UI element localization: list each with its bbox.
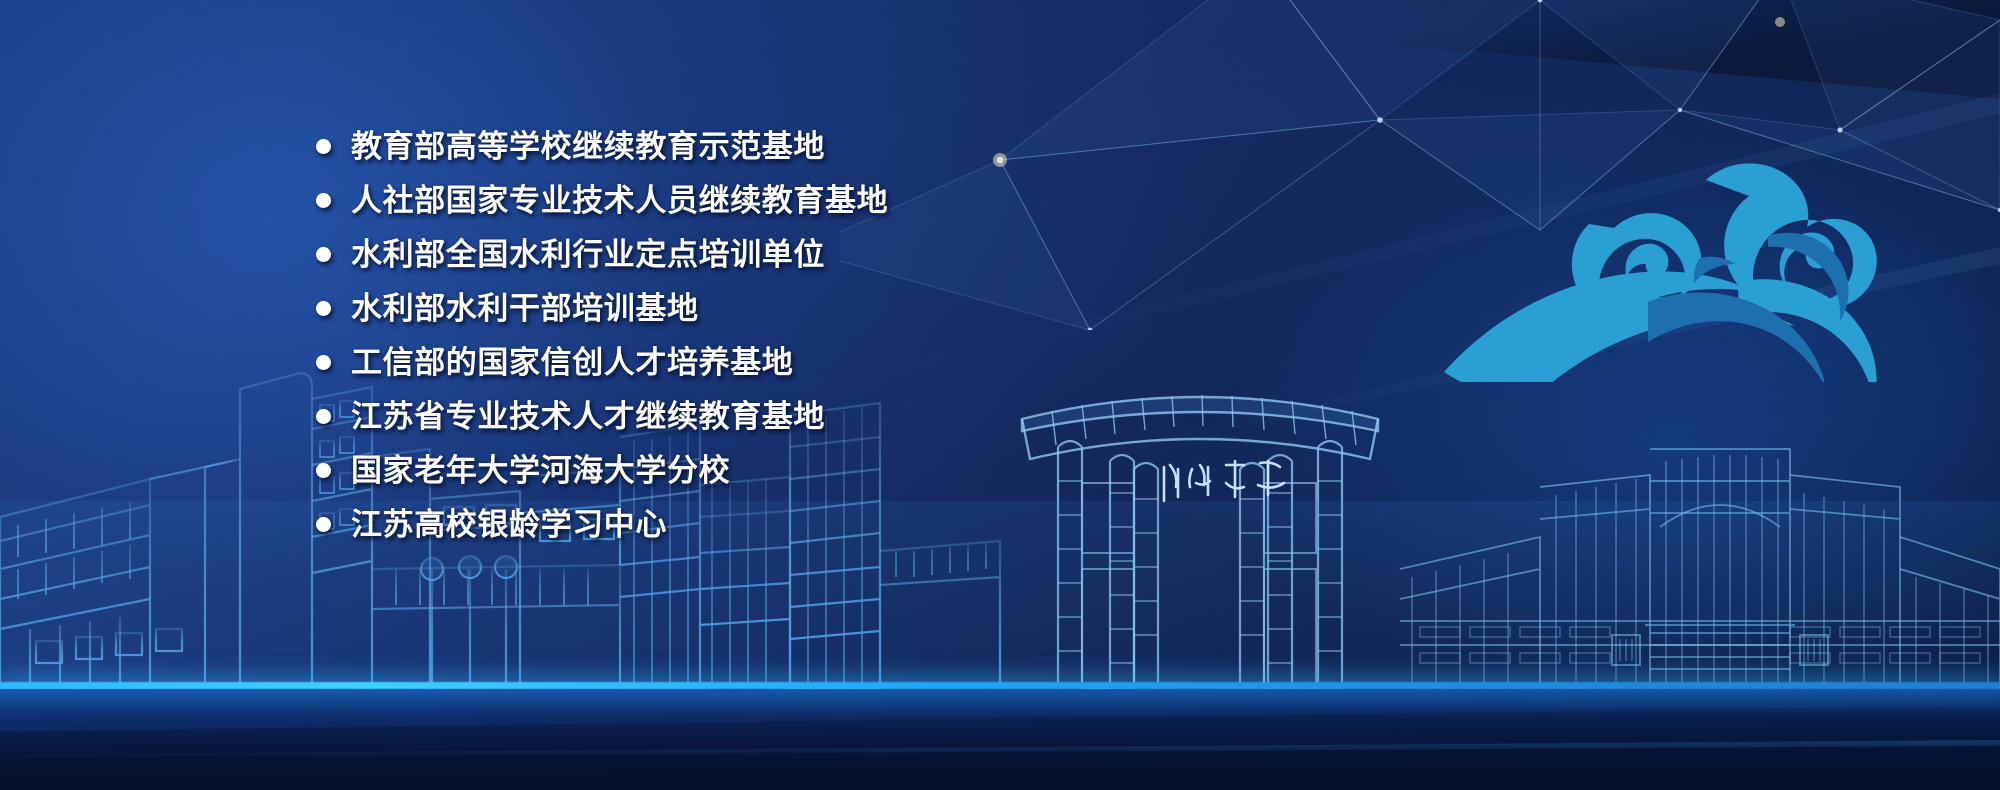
list-item: 人社部国家专业技术人员继续教育基地: [316, 180, 888, 221]
list-item: 工信部的国家信创人才培养基地: [316, 342, 888, 383]
list-item: 江苏省专业技术人才继续教育基地: [316, 396, 888, 437]
campus-skyline-line-art: [0, 269, 2000, 689]
bullet-dot-icon: [316, 247, 331, 262]
bullet-dot-icon: [316, 517, 331, 532]
credential-label: 国家老年大学河海大学分校: [351, 455, 730, 486]
credential-label: 工信部的国家信创人才培养基地: [351, 347, 793, 378]
bullet-dot-icon: [316, 409, 331, 424]
list-item: 水利部全国水利行业定点培训单位: [316, 234, 888, 275]
banner-canvas: 教育部高等学校继续教育示范基地 人社部国家专业技术人员继续教育基地 水利部全国水…: [0, 0, 2000, 790]
list-item: 江苏高校银龄学习中心: [316, 504, 888, 545]
bullet-dot-icon: [316, 193, 331, 208]
list-item: 水利部水利干部培训基地: [316, 288, 888, 329]
bullet-dot-icon: [316, 355, 331, 370]
bullet-dot-icon: [316, 463, 331, 478]
credential-label: 水利部全国水利行业定点培训单位: [351, 239, 825, 270]
bullet-dot-icon: [316, 301, 331, 316]
list-item: 教育部高等学校继续教育示范基地: [316, 126, 888, 167]
credential-label: 水利部水利干部培训基地: [351, 293, 699, 324]
credential-label: 江苏高校银龄学习中心: [351, 509, 667, 540]
credential-label: 江苏省专业技术人才继续教育基地: [351, 401, 825, 432]
horizon-glow-line: [0, 682, 2000, 689]
credential-label: 教育部高等学校继续教育示范基地: [351, 131, 825, 162]
credentials-list: 教育部高等学校继续教育示范基地 人社部国家专业技术人员继续教育基地 水利部全国水…: [316, 126, 888, 545]
list-item: 国家老年大学河海大学分校: [316, 450, 888, 491]
bullet-dot-icon: [316, 139, 331, 154]
credential-label: 人社部国家专业技术人员继续教育基地: [351, 185, 888, 216]
